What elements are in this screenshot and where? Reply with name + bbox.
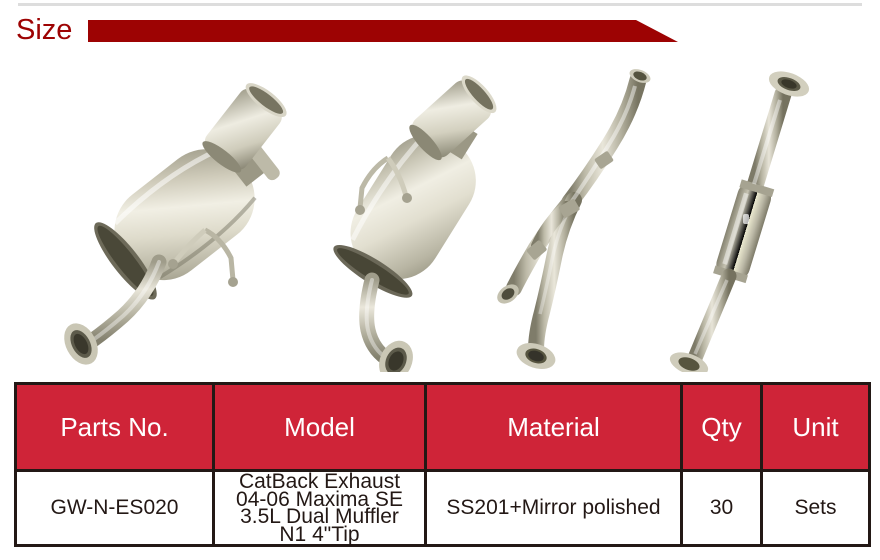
top-divider	[18, 3, 862, 6]
table-body: GW-N-ES020 CatBack Exhaust 04-06 Maxima …	[16, 471, 870, 546]
page-title: Size	[16, 14, 72, 46]
product-image-resonator-pipe	[655, 62, 855, 372]
column-header-qty: Qty	[682, 384, 762, 471]
product-image-muffler-left	[55, 62, 305, 372]
column-header-unit: Unit	[762, 384, 870, 471]
table-header: Parts No. Model Material Qty Unit	[16, 384, 870, 471]
table-row: GW-N-ES020 CatBack Exhaust 04-06 Maxima …	[16, 471, 870, 546]
product-image-muffler-right	[310, 62, 505, 372]
cell-unit: Sets	[762, 471, 870, 546]
table-header-row: Parts No. Model Material Qty Unit	[16, 384, 870, 471]
banner-arrow-bar	[88, 20, 678, 42]
cell-qty: 30	[682, 471, 762, 546]
column-header-model: Model	[214, 384, 426, 471]
cell-model: CatBack Exhaust 04-06 Maxima SE 3.5L Dua…	[214, 471, 426, 546]
cell-parts-no: GW-N-ES020	[16, 471, 214, 546]
banner-arrow-shape	[88, 20, 678, 42]
product-gallery	[0, 62, 880, 372]
column-header-parts-no: Parts No.	[16, 384, 214, 471]
cell-material: SS201+Mirror polished	[426, 471, 682, 546]
product-image-y-pipe	[488, 62, 673, 372]
size-banner: Size	[0, 8, 880, 54]
cell-model-line-4: N1 4"Tip	[215, 526, 424, 544]
specification-table: Parts No. Model Material Qty Unit GW-N-E…	[14, 382, 871, 547]
column-header-material: Material	[426, 384, 682, 471]
